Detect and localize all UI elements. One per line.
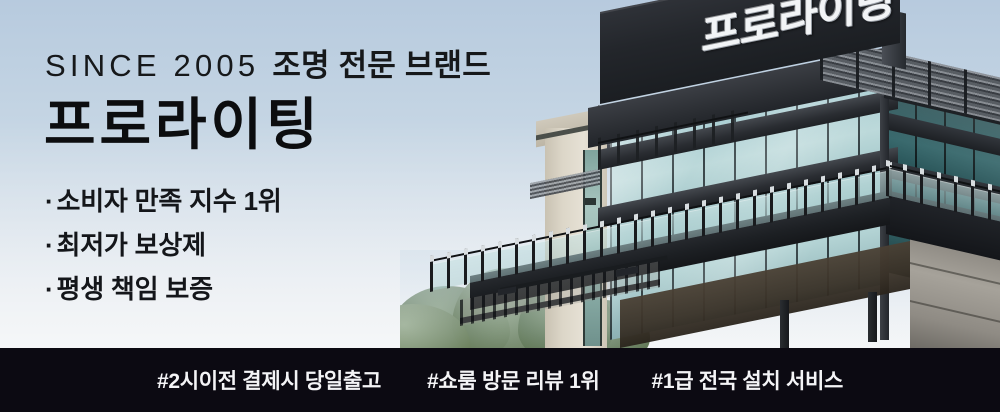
hero-eyebrow-kr: 조명 전문 브랜드: [272, 50, 491, 81]
list-item: ·평생 책임 보증: [45, 276, 282, 302]
brand-title: 프로라이팅: [44, 96, 322, 155]
list-item-label: 평생 책임 보증: [56, 274, 212, 304]
list-item: ·최저가 보상제: [45, 232, 282, 258]
deck-support-post: [780, 300, 789, 350]
hero-copy: SINCE 2005 조명 전문 브랜드 프로라이팅 ·소비자 만족 지수 1위…: [0, 0, 470, 348]
hero-eyebrow: SINCE 2005 조명 전문 브랜드: [45, 50, 491, 81]
feature-bullet-list: ·소비자 만족 지수 1위 ·최저가 보상제 ·평생 책임 보증: [45, 188, 282, 320]
benefit-tag-nationwide-install: #1급 전국 설치 서비스: [652, 365, 844, 395]
bullet-marker-icon: ·: [45, 186, 53, 216]
building-photo: 프로라이팅: [470, 0, 1000, 348]
tower-slot-mark: [585, 198, 596, 205]
benefit-bar: #2시이전 결제시 당일출고 #쇼룸 방문 리뷰 1위 #1급 전국 설치 서비…: [0, 348, 1000, 412]
list-item: ·소비자 만족 지수 1위: [45, 188, 282, 214]
list-item-label: 소비자 만족 지수 1위: [56, 186, 281, 216]
promo-banner: 프로라이팅: [0, 0, 1000, 412]
bullet-marker-icon: ·: [45, 274, 53, 304]
benefit-tag-same-day-shipping: #2시이전 결제시 당일출고: [157, 365, 381, 395]
benefit-tag-showroom-review: #쇼룸 방문 리뷰 1위: [427, 365, 600, 395]
list-item-label: 최저가 보상제: [56, 230, 205, 260]
bullet-marker-icon: ·: [45, 230, 53, 260]
deck-support-post: [868, 292, 877, 342]
hero-eyebrow-en: SINCE 2005: [45, 50, 259, 81]
